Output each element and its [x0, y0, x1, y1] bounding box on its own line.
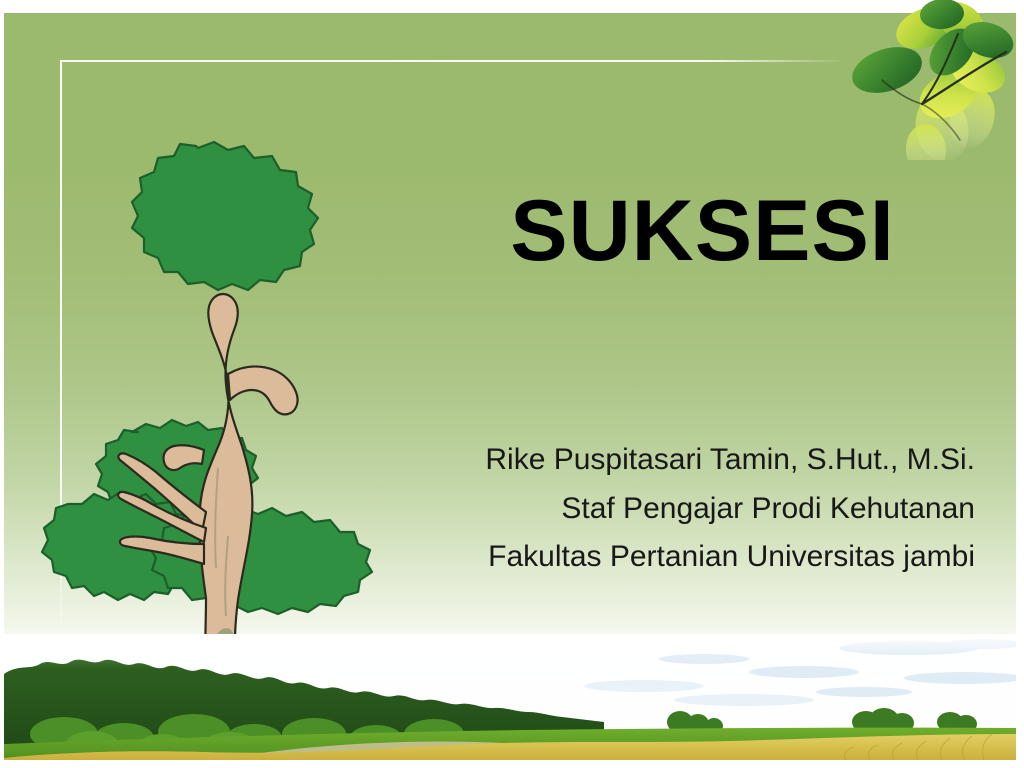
title-slide: SUKSESI Rike Puspitasari Tamin, S.Hut., … [0, 0, 1024, 768]
frame-left-line [60, 60, 62, 640]
subtitle-line-presenter: Rike Puspitasari Tamin, S.Hut., M.Si. [420, 440, 975, 480]
subtitle-block: Rike Puspitasari Tamin, S.Hut., M.Si. St… [420, 440, 975, 577]
page-title: SUKSESI [430, 186, 975, 276]
subtitle-line-role: Staf Pengajar Prodi Kehutanan [420, 489, 975, 529]
subtitle-line-institution: Fakultas Pertanian Universitas jambi [420, 537, 975, 577]
frame-top-line [60, 60, 846, 62]
landscape-photo [4, 634, 1016, 760]
title-block: SUKSESI [430, 186, 975, 276]
